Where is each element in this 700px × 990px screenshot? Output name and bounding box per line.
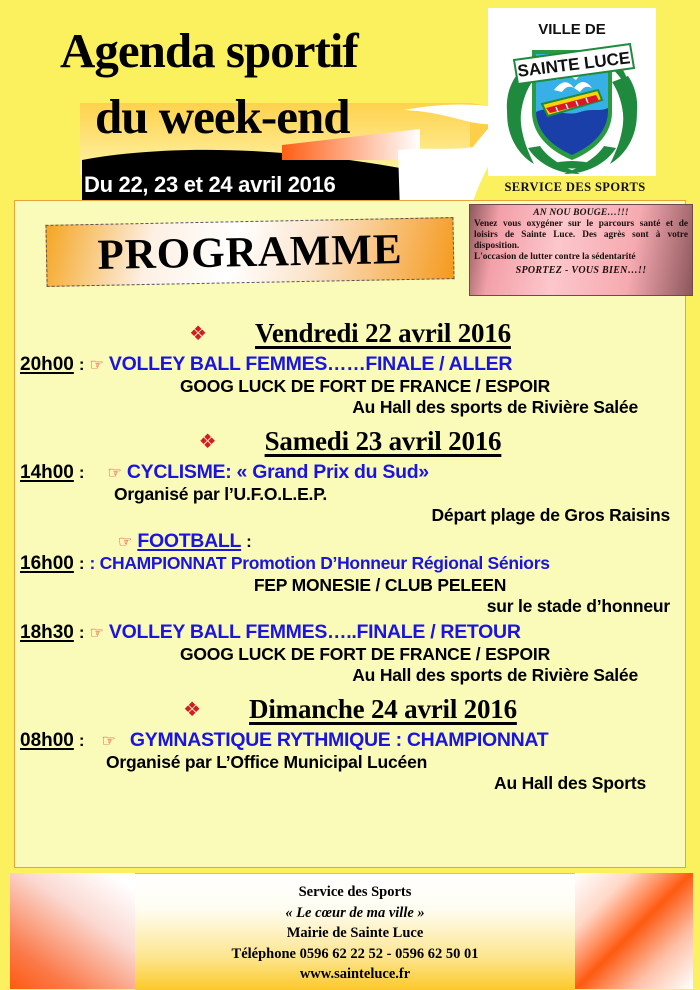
event-item: 20h00 : ☞ VOLLEY BALL FEMMES……FINALE / A… — [14, 353, 686, 418]
footer-line-slogan: « Le cœur de ma ville » — [135, 903, 575, 924]
event-subtitle-teams: FEP MONESIE / CLUB PELEEN — [14, 575, 686, 596]
poster-footer: Service des Sports « Le cœur de ma ville… — [0, 868, 700, 989]
day-header-samedi: ❖ Samedi 23 avril 2016 — [14, 426, 686, 457]
event-time: 16h00 — [20, 553, 74, 575]
event-time: 14h00 — [20, 462, 74, 484]
event-item: 08h00 : ☞ GYMNASTIQUE RYTHMIQUE : CHAMPI… — [14, 729, 686, 794]
day-title: Samedi 23 avril 2016 — [265, 426, 502, 457]
hand-pointer-icon: ☞ — [118, 535, 132, 551]
event-colon: : — [79, 731, 85, 751]
event-subtitle-venue: Départ plage de Gros Raisins — [14, 505, 686, 526]
event-subtitle-organizer: Organisé par L’Office Municipal Lucéen — [14, 752, 686, 773]
page-title-line2: du week-end — [95, 88, 515, 145]
event-colon: : — [79, 623, 85, 643]
footer-line-service: Service des Sports — [135, 882, 575, 903]
notice-footer: SPORTEZ - VOUS BIEN…!! — [474, 265, 688, 276]
poster-header: Agenda sportif du week-end Du 22, 23 et … — [0, 0, 700, 200]
event-time: 18h30 — [20, 622, 74, 644]
day-header-dimanche: ❖ Dimanche 24 avril 2016 — [14, 694, 686, 725]
programme-banner: PROGRAMME — [45, 217, 454, 287]
notice-title: AN NOU BOUGE…!!! — [474, 208, 688, 218]
footer-left-gradient — [10, 873, 135, 989]
event-subtitle-venue: Au Hall des sports de Rivière Salée — [14, 397, 686, 418]
event-subtitle-venue: sur le stade d’honneur — [14, 596, 686, 617]
event-name: VOLLEY BALL FEMMES…..FINALE / RETOUR — [109, 621, 521, 644]
diamond-bullet-icon: ❖ — [183, 700, 201, 720]
footer-line-phone: Téléphone 0596 62 22 52 - 0596 62 50 01 — [135, 944, 575, 965]
hand-pointer-icon: ☞ — [102, 734, 116, 750]
event-name: CYCLISME: « Grand Prix du Sud» — [127, 461, 429, 484]
footer-line-website[interactable]: www.sainteluce.fr — [135, 964, 575, 985]
event-item: ☞ FOOTBALL : 16h00 : : CHAMPIONNAT Promo… — [14, 530, 686, 617]
programme-banner-label: PROGRAMME — [45, 217, 454, 287]
event-subtitle-teams: GOOG LUCK DE FORT DE FRANCE / ESPOIR — [14, 644, 686, 665]
event-time: 08h00 — [20, 730, 74, 752]
football-heading: ☞ FOOTBALL : — [14, 530, 686, 553]
event-name: GYMNASTIQUE RYTHMIQUE : CHAMPIONNAT — [130, 729, 549, 752]
day-title: Vendredi 22 avril 2016 — [255, 318, 511, 349]
footer-right-gradient — [575, 873, 693, 989]
notice-body: Venez vous oxygéner sur le parcours sant… — [474, 219, 688, 252]
day-header-vendredi: ❖ Vendredi 22 avril 2016 — [14, 318, 686, 349]
hand-pointer-icon: ☞ — [90, 626, 104, 642]
diamond-bullet-icon: ❖ — [189, 324, 207, 344]
event-colon: : — [79, 554, 85, 574]
an-nou-bouge-notice: AN NOU BOUGE…!!! Venez vous oxygéner sur… — [469, 204, 693, 296]
notice-line2: L'occasion de lutter contre la sédentari… — [474, 252, 688, 263]
diamond-bullet-icon: ❖ — [199, 432, 217, 452]
day-title: Dimanche 24 avril 2016 — [249, 694, 517, 725]
programme-body: ❖ Vendredi 22 avril 2016 20h00 : ☞ VOLLE… — [14, 310, 686, 798]
footer-line-mairie: Mairie de Sainte Luce — [135, 923, 575, 944]
event-name: VOLLEY BALL FEMMES……FINALE / ALLER — [109, 353, 512, 376]
event-sport-heading: FOOTBALL — [137, 530, 241, 553]
hand-pointer-icon: ☞ — [108, 466, 122, 482]
page-title-line1: Agenda sportif — [60, 22, 480, 79]
event-item: 18h30 : ☞ VOLLEY BALL FEMMES…..FINALE / … — [14, 621, 686, 686]
event-heading-colon: : — [246, 532, 252, 552]
event-subtitle-organizer: Organisé par l’U.F.O.L.E.P. — [14, 484, 686, 505]
event-item: 14h00 : ☞ CYCLISME: « Grand Prix du Sud»… — [14, 461, 686, 526]
hand-pointer-icon: ☞ — [90, 358, 104, 374]
event-subtitle-venue: Au Hall des sports de Rivière Salée — [14, 665, 686, 686]
event-subtitle-venue: Au Hall des Sports — [14, 773, 686, 794]
event-subtitle-teams: GOOG LUCK DE FORT DE FRANCE / ESPOIR — [14, 376, 686, 397]
event-name: : CHAMPIONNAT Promotion D’Honneur Région… — [90, 553, 550, 574]
event-colon: : — [79, 355, 85, 375]
service-des-sports-label: SERVICE DES SPORTS — [470, 180, 680, 195]
event-time: 20h00 — [20, 354, 74, 376]
logo-banner-top: VILLE DE — [538, 21, 606, 38]
dates-band: Du 22, 23 et 24 avril 2016 — [84, 172, 424, 198]
event-colon: : — [79, 463, 85, 483]
footer-contact-block: Service des Sports « Le cœur de ma ville… — [135, 882, 575, 985]
